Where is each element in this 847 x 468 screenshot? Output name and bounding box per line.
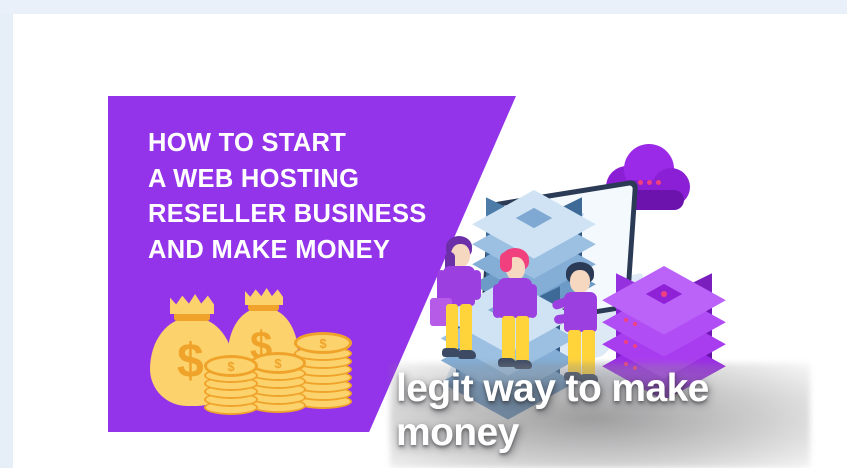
money-bag-large-top — [170, 294, 214, 314]
page-root: HOW TO START A WEB HOSTING RESELLER BUSI… — [0, 0, 847, 468]
browser-top-band — [0, 0, 847, 14]
banner-headline: HOW TO START A WEB HOSTING RESELLER BUSI… — [148, 126, 448, 268]
cloud-status-dots — [638, 180, 661, 185]
headline-line-3: RESELLER BUSINESS — [148, 197, 448, 233]
headline-line-1: HOW TO START — [148, 126, 448, 162]
video-caption-overlay: legit way to make money — [396, 367, 806, 455]
person-at-laptop — [492, 248, 544, 380]
headline-line-4: AND MAKE MONEY — [148, 233, 448, 269]
money-bag-large-dollar: $ — [177, 338, 204, 386]
page-left-rail — [0, 14, 13, 468]
caption-line-2: money — [396, 411, 806, 455]
caption-line-1: legit way to make — [396, 367, 806, 411]
money-bags-and-coins-icon: $ $ $ $ — [146, 290, 371, 410]
coin-stack-left: $ — [204, 356, 258, 408]
clipped-article-title[interactable] — [116, 455, 546, 468]
headline-line-2: A WEB HOSTING — [148, 162, 448, 198]
coin-stack-middle: $ — [250, 352, 306, 408]
person-with-briefcase — [434, 236, 486, 376]
money-bag-small-top — [245, 288, 283, 305]
